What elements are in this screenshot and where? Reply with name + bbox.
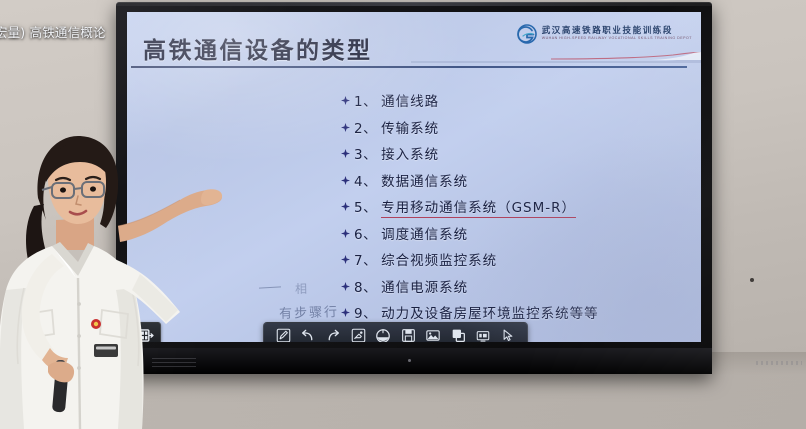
video-overlay-header: 量 张宏量(张宏量) 高铁通信概论 (0, 14, 690, 48)
diamond-bullet-icon (341, 176, 350, 185)
list-item-number: 4、 (354, 170, 377, 190)
shape-icon[interactable] (372, 326, 394, 342)
list-item: 8、 通信电源系统 (341, 276, 599, 303)
smartboard-screen[interactable]: 高铁通信设备的类型 武汉高速铁路职业技能训练段 WUHAN HIGH-SPEED… (127, 12, 701, 342)
list-item: 2、 传输系统 (341, 117, 599, 144)
undo-icon[interactable] (297, 326, 319, 342)
list-item: 7、 综合视频监控系统 (341, 249, 599, 276)
list-item-number: 9、 (354, 302, 377, 322)
list-item-number: 8、 (354, 276, 377, 296)
list-item: 4、 数据通信系统 (341, 170, 599, 197)
power-led (408, 359, 411, 362)
list-item-number: 2、 (354, 117, 377, 137)
list-item-label: 调度通信系统 (381, 223, 468, 243)
list-item: 3、 接入系统 (341, 143, 599, 170)
diamond-bullet-icon (341, 202, 350, 211)
save-icon[interactable] (397, 326, 419, 342)
screenshot-stage: 高铁通信设备的类型 武汉高速铁路职业技能训练段 WUHAN HIGH-SPEED… (0, 0, 806, 429)
list-item-label: 动力及设备房屋环境监控系统等等 (381, 302, 599, 322)
list-item-number: 3、 (354, 143, 377, 163)
bezel-top-highlight (116, 2, 712, 6)
diamond-bullet-icon (341, 123, 350, 132)
handwriting-annotation-1: 有步骤行 (279, 301, 340, 322)
list-item-number: 6、 (354, 223, 377, 243)
bezel-vent-right (756, 361, 802, 365)
list-item-number: 1、 (354, 90, 377, 110)
display-icon[interactable] (472, 326, 494, 342)
layers-icon[interactable] (447, 326, 469, 342)
diamond-bullet-icon (341, 282, 350, 291)
list-item-label: 通信电源系统 (381, 276, 468, 296)
diamond-bullet-icon (341, 96, 350, 105)
presenter (0, 128, 190, 429)
bezel-bottom (116, 348, 712, 374)
annotation-toolbar[interactable] (263, 322, 528, 342)
diamond-bullet-icon (341, 149, 350, 158)
list-item-number: 5、 (354, 196, 377, 216)
title-underline (131, 66, 687, 68)
pen-icon[interactable] (272, 326, 294, 342)
list-item-label: 数据通信系统 (381, 170, 468, 190)
diamond-bullet-icon (341, 229, 350, 238)
list-item-label: 传输系统 (381, 117, 439, 137)
handwriting-dash (259, 286, 281, 288)
eraser-icon[interactable] (347, 326, 369, 342)
list-item-label: 专用移动通信系统（GSM-R） (381, 196, 576, 218)
redo-icon[interactable] (322, 326, 344, 342)
diamond-bullet-icon (341, 308, 350, 317)
presenter-arm (118, 182, 238, 244)
list-item-label: 综合视频监控系统 (381, 249, 497, 269)
wall-fixture-dot (750, 278, 754, 282)
bullet-list: 1、 通信线路 2、 传输系统 3、 (341, 90, 599, 329)
train-decoration (411, 52, 701, 64)
handwriting-annotation-2: 相 (295, 280, 309, 297)
list-item-label: 接入系统 (381, 143, 439, 163)
cursor-icon[interactable] (497, 326, 519, 342)
list-item-label: 通信线路 (381, 90, 439, 110)
list-item: 5、 专用移动通信系统（GSM-R） (341, 196, 599, 223)
diamond-bullet-icon (341, 255, 350, 264)
image-icon[interactable] (422, 326, 444, 342)
list-item: 6、 调度通信系统 (341, 223, 599, 250)
presentation-slide: 高铁通信设备的类型 武汉高速铁路职业技能训练段 WUHAN HIGH-SPEED… (127, 12, 701, 342)
list-item-number: 7、 (354, 249, 377, 269)
list-item: 1、 通信线路 (341, 90, 599, 117)
video-title: 张宏量(张宏量) 高铁通信概论 (0, 22, 106, 41)
